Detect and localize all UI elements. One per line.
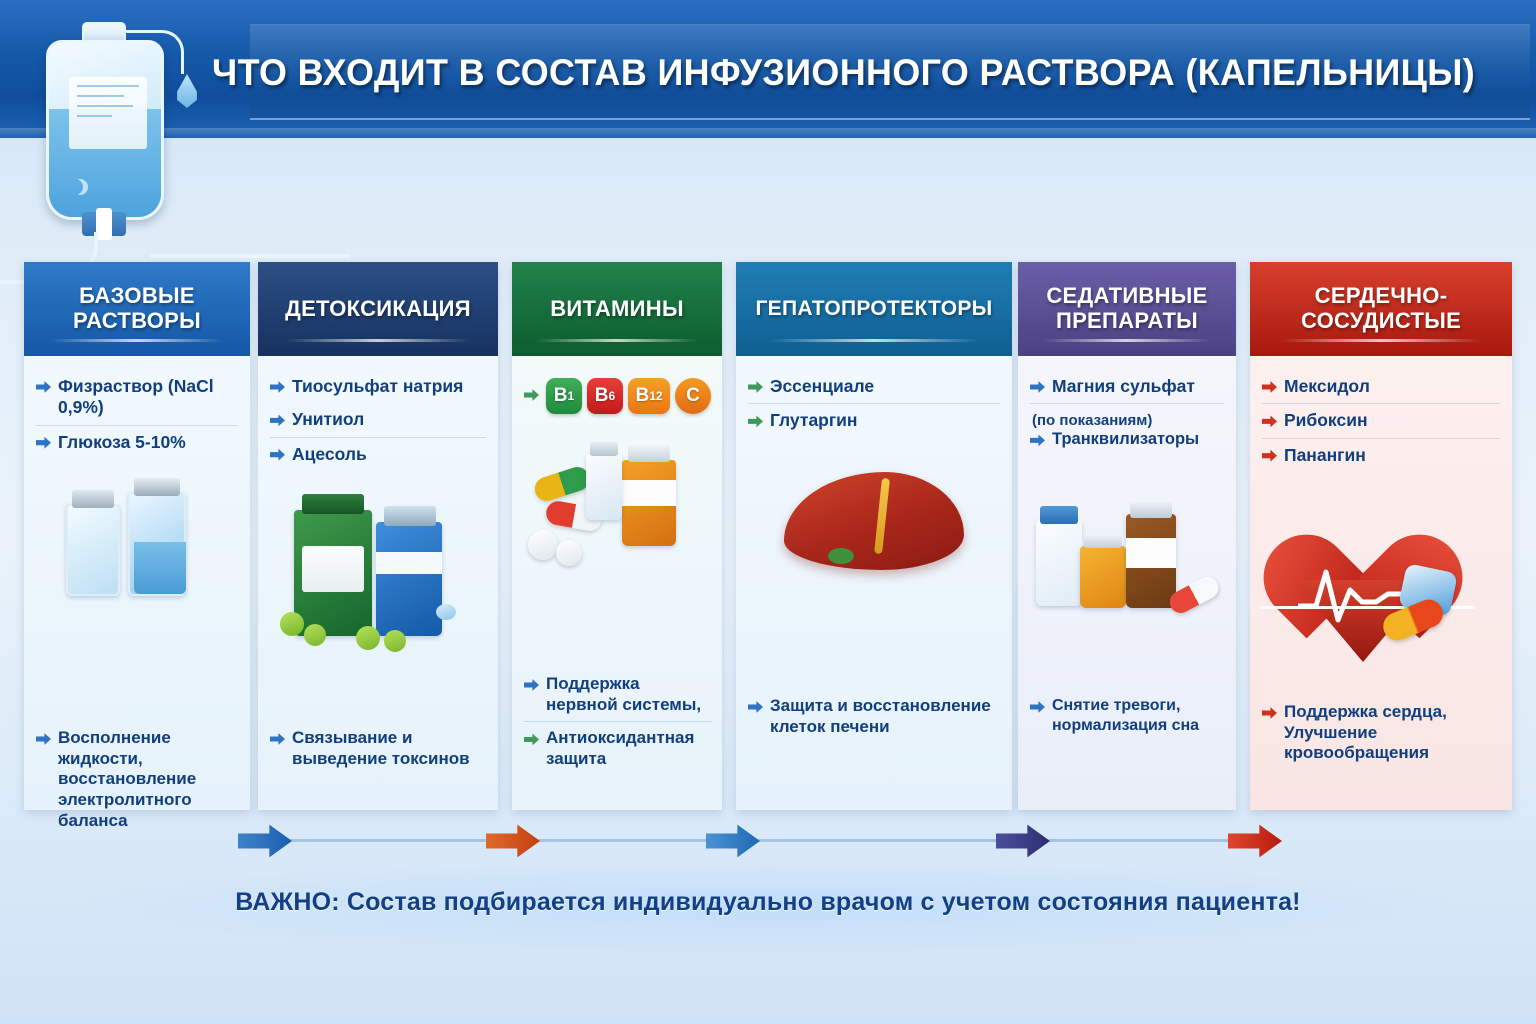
column-title-line1: СЕРДЕЧНО- xyxy=(1315,283,1448,308)
list-item-label: Транквилизаторы xyxy=(1052,429,1224,449)
vial-right-cap xyxy=(134,478,180,496)
outcome-item: Восполнение жидкости, восстановление эле… xyxy=(36,722,240,838)
list-item-label: Унитиол xyxy=(292,409,486,430)
outcome-label: Поддержка сердца, Улучшение кровообращен… xyxy=(1284,702,1502,764)
outcome-item: Связывание и выведение токсинов xyxy=(270,722,488,775)
tablet-white xyxy=(528,530,558,560)
column-body-detoxification: Тиосульфат натрия Унитиол Ацесоль xyxy=(258,356,498,810)
outcome-label: Связывание и выведение токсинов xyxy=(292,728,488,769)
green-bottle-label xyxy=(302,546,364,592)
green-pellet xyxy=(356,626,380,650)
green-pellet xyxy=(384,630,406,652)
column-body-base-solutions: Физраствор (NaCl 0,9%) Глюкоза 5-10% Вос… xyxy=(24,356,250,810)
outcome-label: Снятие тревоги, нормализация сна xyxy=(1052,696,1226,735)
list-item[interactable]: Унитиол xyxy=(270,403,486,436)
column-body-sedatives: Магния сульфат (по показаниям) Транквили… xyxy=(1018,356,1236,810)
column-body-hepatoprotectors: Эссенциале Глутаргин Защита и восстановл… xyxy=(736,356,1012,810)
column-title-line1: СЕДАТИВНЫЕ xyxy=(1046,283,1207,308)
blue-bottle-cap xyxy=(384,506,436,526)
column-cardiovascular[interactable]: СЕРДЕЧНО- СОСУДИСТЫЕ Мексидол Рибоксин П… xyxy=(1250,262,1512,810)
gallbladder-shape xyxy=(828,548,854,564)
art-liver-illustration xyxy=(736,464,1012,634)
outcome-vitamins: Поддержка нервной системы, Антиоксидантн… xyxy=(524,668,712,776)
column-header-cardiovascular: СЕРДЕЧНО- СОСУДИСТЫЕ xyxy=(1250,262,1512,356)
outcome-base-solutions: Восполнение жидкости, восстановление эле… xyxy=(36,722,240,838)
flow-arrow-2 xyxy=(486,824,540,858)
arrow-right-icon xyxy=(1030,700,1045,714)
arrow-right-icon xyxy=(524,678,539,692)
list-item-label: Эссенциале xyxy=(770,376,1000,397)
list-item[interactable]: Магния сульфат xyxy=(1030,370,1224,403)
list-item-label: Физраствор (NaCl 0,9%) xyxy=(58,376,238,419)
green-bottle-cap xyxy=(302,494,364,514)
list-item[interactable]: Мексидол xyxy=(1262,370,1500,403)
arrow-right-icon xyxy=(524,732,539,746)
amber-bottle-cap xyxy=(628,444,670,462)
arrow-right-icon xyxy=(1262,414,1277,428)
column-header-vitamins: ВИТАМИНЫ xyxy=(512,262,722,356)
white-bottle-cap xyxy=(590,442,618,456)
outcome-label: Защита и восстановление клеток печени xyxy=(770,696,1002,737)
arrow-right-icon xyxy=(1262,449,1277,463)
column-header-base-solutions: БАЗОВЫЕ РАСТВОРЫ xyxy=(24,262,250,356)
list-item-label: Мексидол xyxy=(1284,376,1500,397)
outcome-item: Снятие тревоги, нормализация сна xyxy=(1030,690,1226,741)
white-bottle-blue-cap xyxy=(1040,506,1078,524)
iv-tube-extension xyxy=(150,254,350,258)
list-item[interactable]: Ацесоль xyxy=(270,437,486,471)
column-vitamins[interactable]: ВИТАМИНЫ B1 B6 B12 C xyxy=(512,262,722,810)
iv-bag-moon-mark xyxy=(67,179,83,195)
art-green-and-blue-bottles xyxy=(258,484,498,664)
footer-area: ВАЖНО: Состав подбирается индивидуально … xyxy=(0,860,1536,960)
flow-arrow-1 xyxy=(238,824,292,858)
arrow-right-icon xyxy=(748,414,763,428)
arrow-right-icon xyxy=(748,380,763,394)
art-two-glass-vials xyxy=(24,476,250,616)
vitamin-badge-row[interactable]: B1 B6 B12 C xyxy=(524,370,710,420)
vitamin-badge-c: C xyxy=(675,378,711,414)
list-item[interactable]: Глутаргин xyxy=(748,403,1000,437)
outcome-label: Антиоксидантная защита xyxy=(546,728,712,769)
vial-left-cap xyxy=(72,490,114,508)
column-header-sedatives: СЕДАТИВНЫЕ ПРЕПАРАТЫ xyxy=(1018,262,1236,356)
list-item-label: Магния сульфат xyxy=(1052,376,1224,397)
outcome-hepatoprotectors: Защита и восстановление клеток печени xyxy=(748,690,1002,743)
arrow-right-icon xyxy=(270,448,285,462)
iv-drop-icon xyxy=(174,74,200,108)
column-body-vitamins: B1 B6 B12 C xyxy=(512,356,722,810)
list-item-label: Ацесоль xyxy=(292,444,486,465)
arrow-right-icon xyxy=(270,732,285,746)
orange-bottle-cap xyxy=(1084,534,1122,548)
column-title-line2: ПРЕПАРАТЫ xyxy=(1056,308,1198,333)
outcome-item: Защита и восстановление клеток печени xyxy=(748,690,1002,743)
iv-bag-body xyxy=(46,40,164,220)
vitamin-badge-b12: B12 xyxy=(628,378,670,414)
column-title-line2: СОСУДИСТЫЕ xyxy=(1301,308,1461,333)
blue-bottle-label xyxy=(376,552,442,574)
list-item[interactable]: Эссенциале xyxy=(748,370,1000,403)
arrow-right-icon xyxy=(748,700,763,714)
amber-bottle-label xyxy=(622,480,676,506)
column-base-solutions[interactable]: БАЗОВЫЕ РАСТВОРЫ Физраствор (NaCl 0,9%) … xyxy=(24,262,250,810)
outcome-detoxification: Связывание и выведение токсинов xyxy=(270,722,488,775)
arrow-right-icon xyxy=(36,436,51,450)
list-item-label: Глутаргин xyxy=(770,410,1000,431)
arrow-right-icon xyxy=(1262,380,1277,394)
column-title: ДЕТОКСИКАЦИЯ xyxy=(285,297,471,322)
page-title: ЧТО ВХОДИТ В СОСТАВ ИНФУЗИОННОГО РАСТВОР… xyxy=(212,52,1463,94)
flow-arrow-5 xyxy=(1228,824,1282,858)
column-header-detoxification: ДЕТОКСИКАЦИЯ xyxy=(258,262,498,356)
tablet-white xyxy=(556,540,582,566)
column-header-hepatoprotectors: ГЕПАТОПРОТЕКТОРЫ xyxy=(736,262,1012,356)
iv-bag-label xyxy=(69,77,147,149)
arrow-right-icon xyxy=(270,380,285,394)
blue-bottle xyxy=(376,522,442,636)
vial-left xyxy=(66,504,120,596)
green-pellet xyxy=(304,624,326,646)
liver-shape xyxy=(784,472,964,570)
orange-bottle xyxy=(1080,546,1126,608)
white-bottle xyxy=(1036,520,1082,606)
column-title-line1: БАЗОВЫЕ xyxy=(79,283,195,308)
arrow-right-icon xyxy=(36,732,51,746)
column-detoxification[interactable]: ДЕТОКСИКАЦИЯ Тиосульфат натрия Унитиол А… xyxy=(258,262,498,810)
column-body-cardiovascular: Мексидол Рибоксин Панангин xyxy=(1250,356,1512,810)
blue-tablet xyxy=(436,604,456,620)
vitamin-badge-b1: B1 xyxy=(546,378,582,414)
list-item-label: Тиосульфат натрия xyxy=(292,376,486,397)
outcome-label: Восполнение жидкости, восстановление эле… xyxy=(58,728,240,832)
list-item-label: Рибоксин xyxy=(1284,410,1500,431)
outcome-item: Поддержка сердца, Улучшение кровообращен… xyxy=(1262,696,1502,770)
column-title-line2: РАСТВОРЫ xyxy=(73,308,201,333)
flow-arrow-3 xyxy=(706,824,760,858)
list-item[interactable]: Физраствор (NaCl 0,9%) xyxy=(36,370,238,425)
outcome-sedatives: Снятие тревоги, нормализация сна xyxy=(1030,690,1226,741)
vitamin-badges: B1 B6 B12 C xyxy=(546,376,711,414)
arrow-right-icon xyxy=(1262,706,1277,720)
capsule-yellow-green xyxy=(532,464,593,504)
arrow-right-icon xyxy=(270,413,285,427)
column-title: ГЕПАТОПРОТЕКТОРЫ xyxy=(755,297,992,321)
column-sedatives[interactable]: СЕДАТИВНЫЕ ПРЕПАРАТЫ Магния сульфат (по … xyxy=(1018,262,1236,810)
arrow-right-icon xyxy=(524,388,539,402)
white-bottle xyxy=(586,454,622,520)
vitamin-badge-b6: B6 xyxy=(587,378,623,414)
iv-bag-icon xyxy=(24,12,204,274)
arrow-right-icon xyxy=(1030,380,1045,394)
art-heart-ecg-pills xyxy=(1250,502,1512,662)
brown-bottle-label xyxy=(1126,538,1176,568)
vial-right-liquid xyxy=(134,542,186,594)
outcome-label: Поддержка нервной системы, xyxy=(546,674,712,715)
art-medicine-bottles-capsule xyxy=(1018,484,1236,654)
list-item[interactable]: Панангин xyxy=(1262,438,1500,472)
category-columns: БАЗОВЫЕ РАСТВОРЫ Физраствор (NaCl 0,9%) … xyxy=(0,262,1536,822)
list-item[interactable]: Рибоксин xyxy=(1262,403,1500,437)
outcome-item: Поддержка нервной системы, xyxy=(524,668,712,721)
outcome-item: Антиоксидантная защита xyxy=(524,721,712,775)
flow-arrow-4 xyxy=(996,824,1050,858)
footer-note: ВАЖНО: Состав подбирается индивидуально … xyxy=(0,888,1536,917)
outcome-cardiovascular: Поддержка сердца, Улучшение кровообращен… xyxy=(1262,696,1502,770)
arrow-right-icon xyxy=(1030,433,1045,447)
list-item[interactable]: Глюкоза 5-10% xyxy=(36,425,238,459)
column-title: ВИТАМИНЫ xyxy=(550,297,684,322)
green-pellet xyxy=(280,612,304,636)
brown-bottle-cap xyxy=(1130,500,1172,518)
art-capsules-tablets-bottle xyxy=(512,428,722,598)
arrow-right-icon xyxy=(36,380,51,394)
column-hepatoprotectors[interactable]: ГЕПАТОПРОТЕКТОРЫ Эссенциале Глутаргин За… xyxy=(736,262,1012,810)
list-item[interactable]: Тиосульфат натрия xyxy=(270,370,486,403)
list-item-label: Панангин xyxy=(1284,445,1500,466)
indication-note: (по показаниям) xyxy=(1030,403,1224,429)
list-item[interactable]: Транквилизаторы xyxy=(1030,429,1224,455)
list-item-label: Глюкоза 5-10% xyxy=(58,432,238,453)
